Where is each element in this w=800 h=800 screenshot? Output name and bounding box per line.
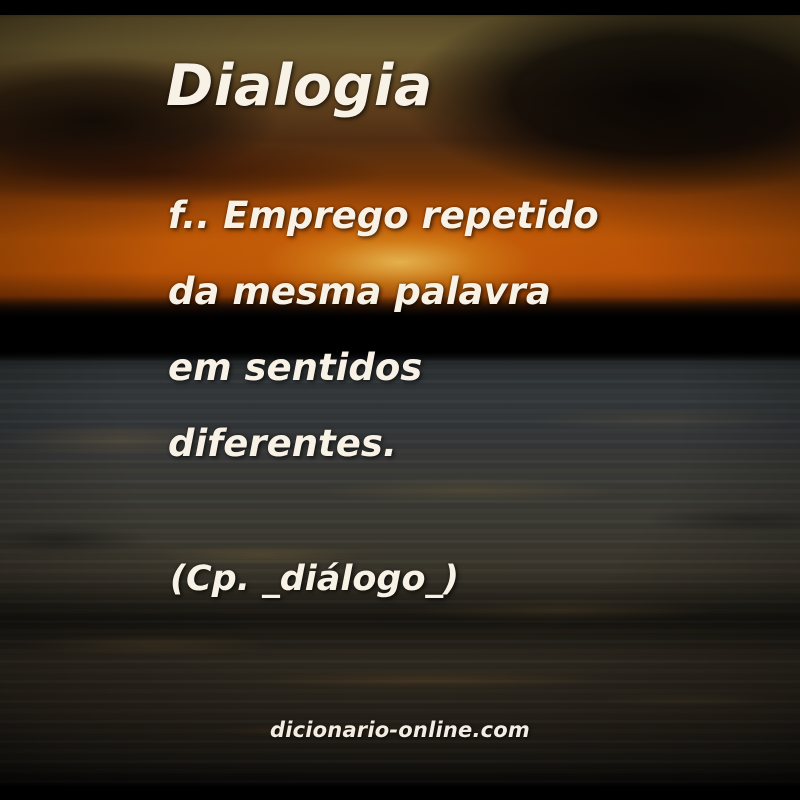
definition-line-3: em sentidos bbox=[168, 330, 668, 406]
headword-title: Dialogia bbox=[166, 58, 433, 115]
text-layer: Dialogia f.. Emprego repetido da mesma p… bbox=[0, 0, 800, 800]
definition-line-4: diferentes. bbox=[168, 406, 668, 482]
definition-line-1: f.. Emprego repetido bbox=[168, 178, 668, 254]
compare-note: (Cp. _diálogo_) bbox=[170, 562, 459, 597]
site-watermark: dicionario-online.com bbox=[0, 718, 800, 742]
definition-line-2: da mesma palavra bbox=[168, 254, 668, 330]
definition-text: f.. Emprego repetido da mesma palavra em… bbox=[168, 178, 668, 482]
definition-card: Dialogia f.. Emprego repetido da mesma p… bbox=[0, 0, 800, 800]
